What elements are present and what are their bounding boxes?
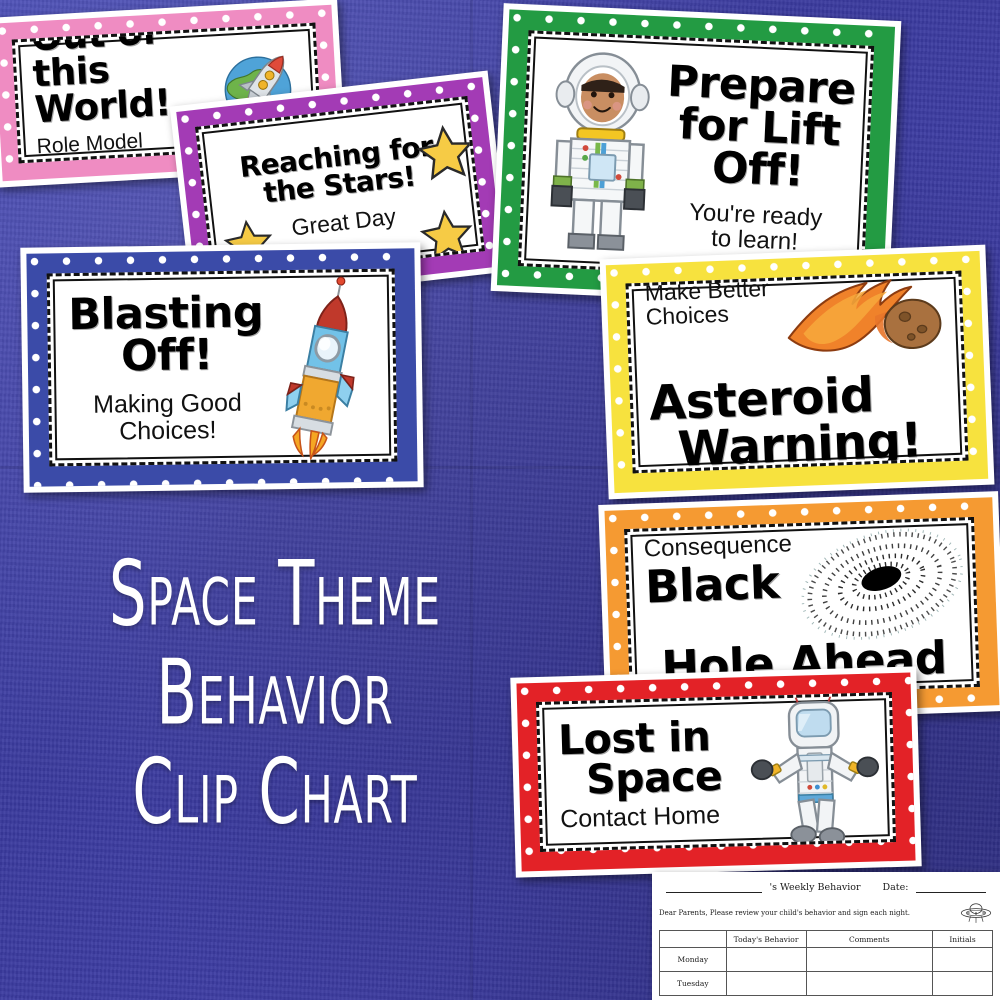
form-note: Dear Parents, Please review your child's…: [659, 909, 910, 917]
row-label-monday: Monday: [660, 948, 727, 972]
poster-title-line-3: CLIP CHART: [103, 732, 447, 853]
card-title-line-3: Off!: [711, 147, 804, 193]
cell-initials[interactable]: [933, 948, 993, 972]
cell-initials[interactable]: [933, 972, 993, 996]
card-inner: Blasting Off! Making Good Choices!: [47, 269, 398, 467]
date-blank[interactable]: [916, 882, 986, 893]
comet-icon: [768, 271, 952, 372]
gold-star-icon: [413, 121, 477, 185]
card-title-line-1: Black: [644, 560, 794, 609]
cell-comments[interactable]: [806, 948, 933, 972]
table-row: Monday: [660, 948, 993, 972]
weekly-behavior-form[interactable]: 's Weekly Behavior Date: Dear Parents, P…: [652, 872, 1000, 1000]
card-blasting-off[interactable]: Blasting Off! Making Good Choices!: [20, 242, 423, 493]
card-inner: Prepare for Lift Off! You're ready to le…: [518, 30, 874, 281]
card-inner: Lost in Space Contact Home: [536, 692, 896, 852]
form-note-row: Dear Parents, Please review your child's…: [659, 901, 993, 925]
gold-star-icon: [417, 205, 477, 265]
behavior-table: Today's Behavior Comments Initials Monda…: [659, 930, 993, 996]
cell-behavior[interactable]: [726, 972, 806, 996]
card-star-border: Make Better Choices: [606, 251, 988, 493]
card-star-border: Blasting Off! Making Good Choices!: [26, 248, 417, 486]
card-title-line-2: Warning!: [644, 416, 956, 473]
poster-title: SPACE THEME BEHAVIOR CLIP CHART: [60, 545, 490, 842]
cell-behavior[interactable]: [726, 948, 806, 972]
col-header-blank: [660, 931, 727, 948]
card-subtitle-line-2: to learn!: [711, 226, 799, 255]
card-subtitle-line-2: Choices: [645, 300, 770, 329]
form-heading-suffix: 's Weekly Behavior: [770, 882, 861, 893]
card-subtitle-line-2: Choices!: [70, 416, 266, 445]
col-header-comments: Comments: [806, 931, 933, 948]
col-header-todays-behavior: Today's Behavior: [726, 931, 806, 948]
card-title-line-2: Space: [559, 755, 750, 800]
form-heading-row: 's Weekly Behavior Date:: [659, 882, 993, 893]
card-title-line-1: Blasting: [68, 292, 265, 337]
astronaut-floating-icon: [747, 705, 882, 833]
date-label: Date:: [883, 882, 909, 893]
col-header-initials: Initials: [933, 931, 993, 948]
card-subtitle: Contact Home: [560, 801, 751, 833]
table-row: Tuesday: [660, 972, 993, 996]
black-hole-icon: [791, 525, 965, 643]
rocket-icon: [264, 282, 384, 451]
card-inner: Make Better Choices: [625, 271, 968, 474]
cell-comments[interactable]: [806, 972, 933, 996]
card-subtitle-line-1: Making Good: [69, 390, 265, 419]
card-title-line-2: Off!: [69, 334, 266, 379]
astronaut-standing-icon: [531, 44, 668, 260]
row-label-tuesday: Tuesday: [660, 972, 727, 996]
card-star-border: Lost in Space Contact Home: [516, 673, 915, 872]
table-header-row: Today's Behavior Comments Initials: [660, 931, 993, 948]
student-name-blank[interactable]: [666, 882, 762, 893]
card-lost-in-space[interactable]: Lost in Space Contact Home: [510, 666, 921, 877]
ufo-icon: [959, 901, 993, 925]
card-title-line-1: Out of this: [30, 23, 210, 93]
card-asteroid-warning[interactable]: Make Better Choices: [600, 245, 995, 500]
poster-canvas: Out of this World! Role Model Behavior: [0, 0, 1000, 1000]
card-subtitle: Great Day: [290, 204, 397, 240]
